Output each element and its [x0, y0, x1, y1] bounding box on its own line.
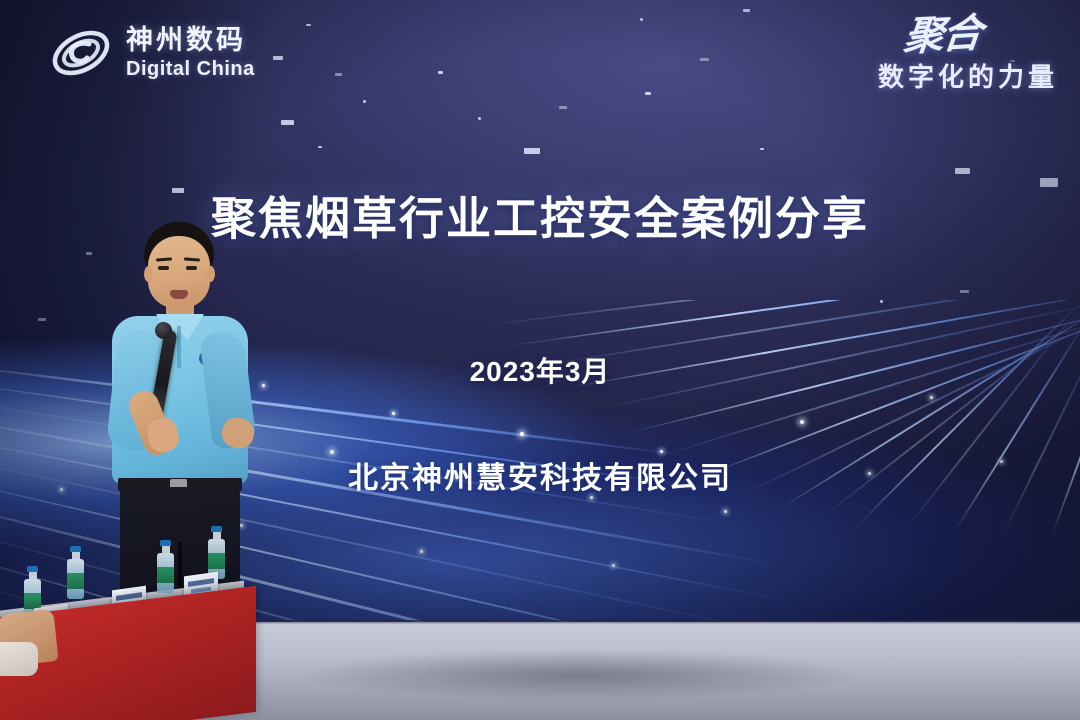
speaker-mouth	[170, 290, 188, 299]
bottle-label	[208, 553, 225, 569]
particle-speck	[306, 24, 311, 26]
spiral-swirl-icon	[48, 22, 114, 84]
bottle-body	[157, 553, 174, 593]
event-calligraphy: 聚合	[876, 15, 983, 57]
particle-speck	[524, 148, 540, 154]
sparkle-particle	[612, 564, 615, 567]
speaker-eye-left	[158, 266, 169, 270]
bottle-body	[67, 559, 84, 599]
brand-name-en: Digital China	[126, 59, 255, 79]
particle-speck	[86, 252, 92, 255]
bottle-label	[157, 567, 174, 583]
water-bottle	[157, 540, 174, 593]
particle-speck	[743, 9, 750, 12]
particle-speck	[438, 71, 443, 74]
water-bottle	[67, 546, 84, 599]
sparkle-particle	[420, 550, 423, 553]
particle-speck	[960, 290, 969, 293]
sparkle-particle	[724, 510, 727, 513]
particle-speck	[363, 100, 366, 103]
speaker-figure	[96, 222, 266, 632]
brand-logo: 神州数码 Digital China	[48, 22, 255, 84]
particle-speck	[640, 18, 643, 21]
particle-speck	[335, 73, 342, 76]
brand-text: 神州数码 Digital China	[126, 27, 255, 79]
conference-photo: 神州数码 Digital China 聚合 数字化的力量 聚焦烟草行业工控安全案…	[0, 0, 1080, 720]
speaker-ear-left	[144, 266, 153, 282]
bottle-label	[67, 573, 84, 589]
particle-speck	[273, 56, 283, 60]
particle-speck	[478, 117, 481, 120]
bottle-neck	[213, 532, 221, 539]
particle-speck	[318, 146, 322, 148]
placard-text-line	[188, 578, 214, 587]
particle-speck	[559, 106, 567, 109]
particle-speck	[700, 58, 709, 61]
bottle-neck	[72, 552, 80, 559]
event-tagline: 数字化的力量	[878, 57, 1058, 94]
particle-speck	[955, 168, 970, 174]
particle-speck	[645, 92, 651, 95]
sparkle-particle	[520, 432, 524, 436]
attendee-sleeve	[0, 642, 38, 676]
particle-speck	[760, 148, 764, 150]
particle-speck	[281, 120, 294, 125]
bottle-neck	[162, 546, 170, 553]
speaker-placket	[177, 326, 181, 368]
sparkle-particle	[800, 420, 804, 424]
sparkle-particle	[930, 396, 933, 399]
event-logo: 聚合 数字化的力量	[878, 18, 1058, 94]
floor-shadow	[300, 650, 860, 700]
sparkle-particle	[392, 412, 395, 415]
bottle-neck	[29, 572, 37, 579]
speaker-eye-right	[186, 266, 197, 270]
speaker-ear-right	[206, 266, 215, 282]
bottle-label	[24, 593, 41, 609]
brand-name-cn: 神州数码	[126, 27, 255, 54]
